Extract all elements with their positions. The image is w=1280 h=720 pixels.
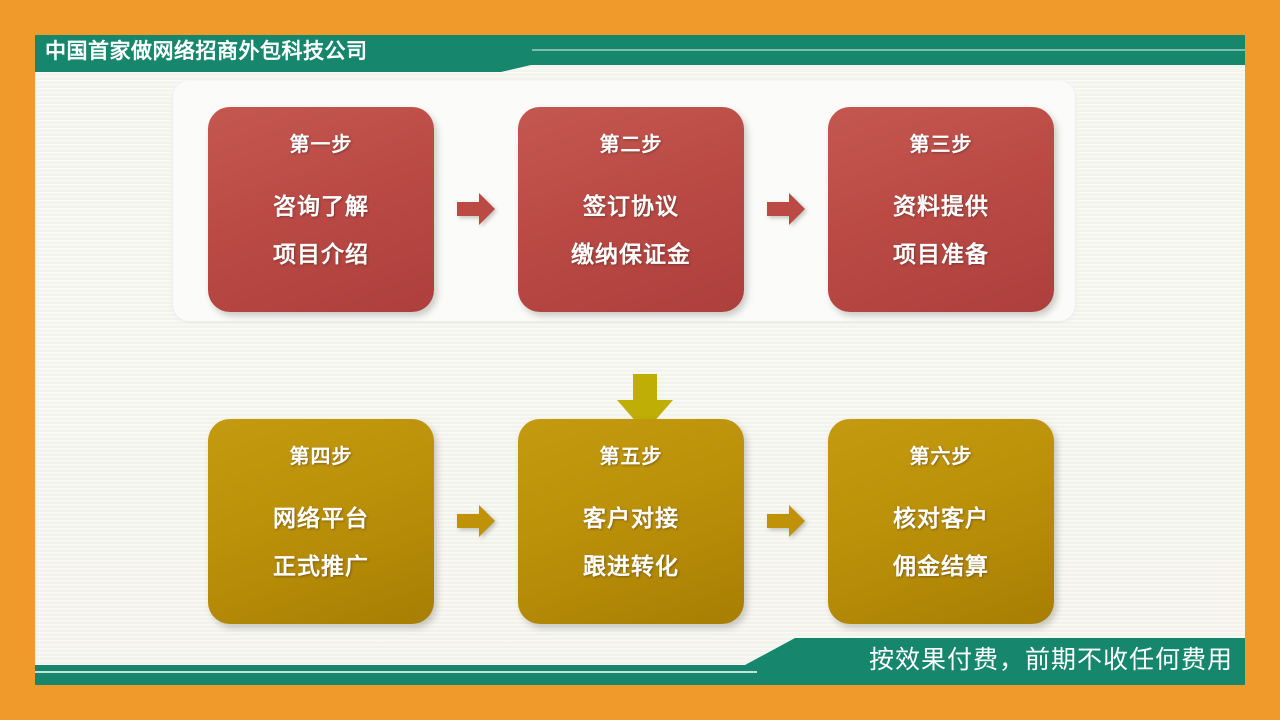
step-title: 第四步	[290, 444, 353, 470]
arrow-right-icon	[434, 191, 518, 227]
step-line-1: 咨询了解	[273, 182, 369, 230]
step-line-2: 项目介绍	[273, 230, 369, 278]
step-body: 客户对接 跟进转化	[583, 494, 679, 590]
step-line-1: 核对客户	[893, 494, 989, 542]
step-line-1: 签订协议	[571, 182, 691, 230]
flow-row-top: 第一步 咨询了解 项目介绍 第二步 签订协议 缴纳保证金	[35, 101, 1245, 317]
flow-row-bottom: 第四步 网络平台 正式推广 第五步 客户对接 跟进转化	[35, 413, 1245, 629]
step-line-1: 客户对接	[583, 494, 679, 542]
step-title: 第二步	[600, 132, 663, 158]
step-box-5[interactable]: 第五步 客户对接 跟进转化	[518, 419, 744, 624]
footer-hairline-divider	[35, 671, 757, 673]
step-title: 第三步	[910, 132, 973, 158]
arrow-right-icon	[744, 191, 828, 227]
step-line-2: 佣金结算	[893, 542, 989, 590]
step-body: 签订协议 缴纳保证金	[571, 182, 691, 278]
arrow-right-icon	[434, 503, 518, 539]
step-line-1: 网络平台	[273, 494, 369, 542]
step-title: 第五步	[600, 444, 663, 470]
slide-root: 中国首家做网络招商外包科技公司 第一步 咨询了解 项目介绍 第二步	[0, 0, 1280, 720]
step-line-2: 跟进转化	[583, 542, 679, 590]
step-box-1[interactable]: 第一步 咨询了解 项目介绍	[208, 107, 434, 312]
arrow-right-icon	[744, 503, 828, 539]
header-hairline-divider	[532, 49, 1245, 51]
step-line-2: 项目准备	[893, 230, 989, 278]
step-box-3[interactable]: 第三步 资料提供 项目准备	[828, 107, 1054, 312]
step-box-4[interactable]: 第四步 网络平台 正式推广	[208, 419, 434, 624]
step-body: 咨询了解 项目介绍	[273, 182, 369, 278]
step-body: 网络平台 正式推广	[273, 494, 369, 590]
step-box-6[interactable]: 第六步 核对客户 佣金结算	[828, 419, 1054, 624]
step-body: 核对客户 佣金结算	[893, 494, 989, 590]
step-box-2[interactable]: 第二步 签订协议 缴纳保证金	[518, 107, 744, 312]
slide-canvas: 中国首家做网络招商外包科技公司 第一步 咨询了解 项目介绍 第二步	[35, 35, 1245, 685]
step-line-2: 正式推广	[273, 542, 369, 590]
footer-tagline: 按效果付费，前期不收任何费用	[869, 643, 1233, 677]
step-title: 第六步	[910, 444, 973, 470]
step-title: 第一步	[290, 132, 353, 158]
step-line-2: 缴纳保证金	[571, 230, 691, 278]
footer: 按效果付费，前期不收任何费用	[35, 628, 1245, 685]
page-title: 中国首家做网络招商外包科技公司	[45, 38, 368, 66]
step-body: 资料提供 项目准备	[893, 182, 989, 278]
step-line-1: 资料提供	[893, 182, 989, 230]
